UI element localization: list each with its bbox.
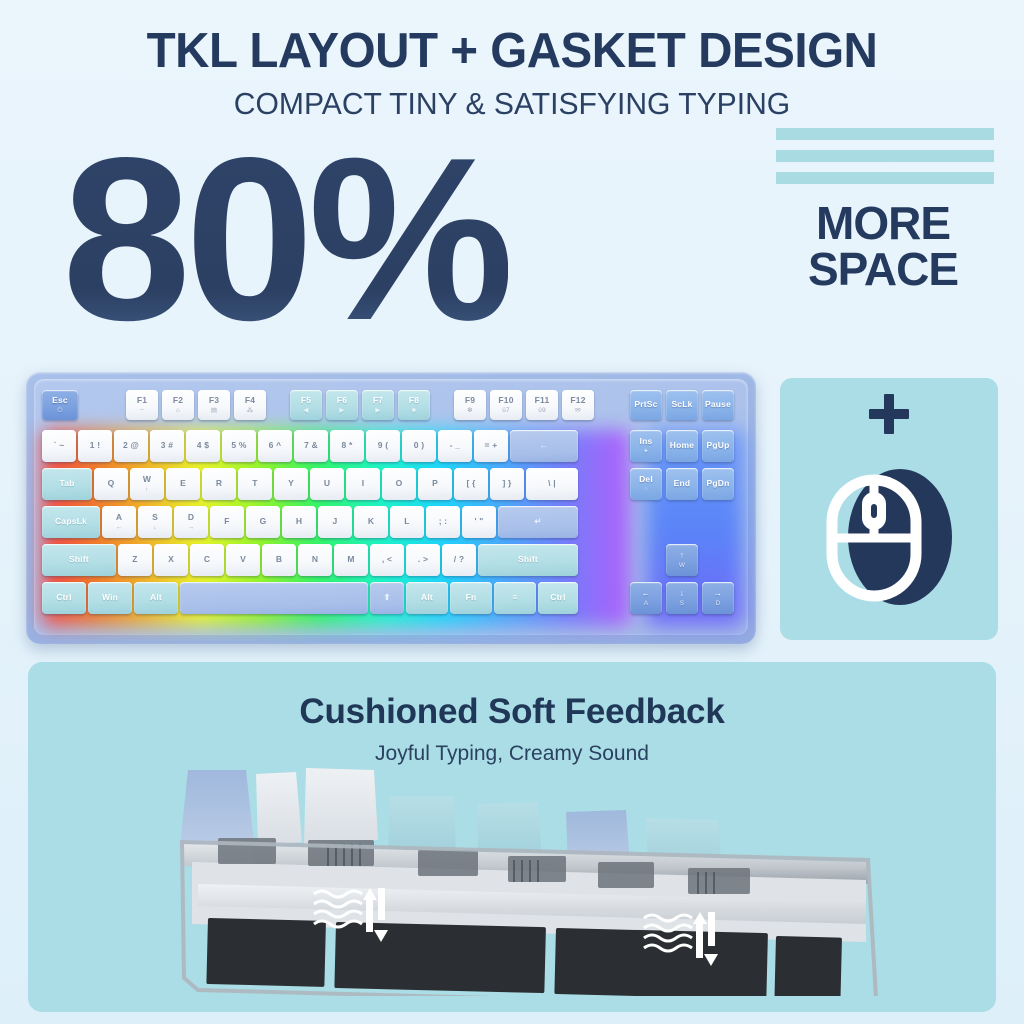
key-label: ScLk xyxy=(671,400,692,410)
page-title: TKL LAYOUT + GASKET DESIGN xyxy=(15,26,1008,77)
feedback-title: Cushioned Soft Feedback xyxy=(28,692,996,732)
key-sublabel: ← xyxy=(116,524,123,531)
key-home-3[interactable]: D→ xyxy=(174,506,208,538)
key-label: Alt xyxy=(150,593,162,603)
key-label: PgUp xyxy=(707,441,730,451)
key-shift-8[interactable]: , < xyxy=(370,544,404,576)
keycaps-layer: Esc⏻F1−F2⌂F3▤F4⁂F5◀F6▶F7▶F8■F9✻F10ὐ7F11ὐ… xyxy=(26,372,756,644)
key-sublabel: ὐ7 xyxy=(502,407,510,414)
key-label: Y xyxy=(288,479,294,489)
hero-section: 80% MORE SPACE xyxy=(0,122,1024,342)
key-label: 5 % xyxy=(231,441,246,451)
key-label: F12 xyxy=(570,396,585,406)
key-home-9[interactable]: L xyxy=(390,506,424,538)
key-sublabel: ○ xyxy=(644,486,648,493)
key-label: Shift xyxy=(69,555,89,565)
key-sublabel: ⌂ xyxy=(176,407,180,414)
key-label: Z xyxy=(132,555,137,565)
key-label: Ins xyxy=(640,437,653,447)
key-shift-5[interactable]: B xyxy=(262,544,296,576)
key-label: W xyxy=(143,475,151,485)
key-label: = + xyxy=(485,441,498,451)
key-label: PgDn xyxy=(707,479,730,489)
key-sublabel: → xyxy=(188,524,195,531)
key-fn-5[interactable]: F5◀ xyxy=(290,390,322,420)
key-shift-7[interactable]: M xyxy=(334,544,368,576)
key-qwerty-0[interactable]: Tab xyxy=(42,468,92,500)
key-bottom-2[interactable]: Alt xyxy=(134,582,178,614)
key-label: ≡ xyxy=(512,593,517,603)
key-label: F6 xyxy=(337,396,347,406)
key-fn-14[interactable]: ScLk xyxy=(666,390,698,420)
keyboard-image: Esc⏻F1−F2⌂F3▤F4⁂F5◀F6▶F7▶F8■F9✻F10ὐ7F11ὐ… xyxy=(26,372,756,644)
key-qwerty-9[interactable]: O xyxy=(382,468,416,500)
key-label: F11 xyxy=(535,396,550,406)
key-label: 2 @ xyxy=(123,441,139,451)
key-label: R xyxy=(216,479,222,489)
key-num-6[interactable]: 6 ^ xyxy=(258,430,292,462)
bar-3 xyxy=(776,172,994,184)
key-num-8[interactable]: 8 * xyxy=(330,430,364,462)
key-sublabel: ▶ xyxy=(339,407,344,414)
key-fn-7[interactable]: F7▶ xyxy=(362,390,394,420)
key-num-11[interactable]: - _ xyxy=(438,430,472,462)
percent-value: 80% xyxy=(62,124,508,356)
key-label: Ctrl xyxy=(550,593,565,603)
feedback-panel: Cushioned Soft Feedback Joyful Typing, C… xyxy=(28,662,996,1012)
key-label: K xyxy=(368,517,374,527)
key-qwerty-8[interactable]: I xyxy=(346,468,380,500)
key-label: Win xyxy=(102,593,118,603)
key-label: F4 xyxy=(245,396,255,406)
more-space-block: MORE SPACE xyxy=(768,128,998,292)
key-qwerty-5[interactable]: T xyxy=(238,468,272,500)
key-home-7[interactable]: J xyxy=(318,506,352,538)
key-fn-2[interactable]: F2⌂ xyxy=(162,390,194,420)
key-label: E xyxy=(180,479,186,489)
key-fn-13[interactable]: PrtSc xyxy=(630,390,662,420)
key-qwerty-2[interactable]: W↑ xyxy=(130,468,164,500)
key-sublabel: ὐ9 xyxy=(538,407,546,414)
key-sublabel: ■ xyxy=(412,407,416,414)
key-label: L xyxy=(404,517,409,527)
key-shift-12[interactable]: ↑W xyxy=(666,544,698,576)
plus-icon xyxy=(867,392,911,436)
key-bottom-1[interactable]: Win xyxy=(88,582,132,614)
key-num-10[interactable]: 0 ) xyxy=(402,430,436,462)
key-label: F1 xyxy=(137,396,147,406)
more-space-line-1: MORE xyxy=(768,200,998,246)
key-label: 4 $ xyxy=(197,441,209,451)
key-label: PrtSc xyxy=(634,400,657,410)
key-num-1[interactable]: 1 ! xyxy=(78,430,112,462)
bar-2 xyxy=(776,150,994,162)
key-label: [ { xyxy=(466,479,475,489)
key-num-0[interactable]: ` ~ xyxy=(42,430,76,462)
key-num-2[interactable]: 2 @ xyxy=(114,430,148,462)
key-label: F8 xyxy=(409,396,419,406)
key-shift-10[interactable]: / ? xyxy=(442,544,476,576)
key-num-5[interactable]: 5 % xyxy=(222,430,256,462)
key-num-15[interactable]: Home xyxy=(666,430,698,462)
mouse-icon xyxy=(814,440,964,625)
key-label: M xyxy=(347,555,354,565)
key-label: ' " xyxy=(474,517,483,527)
key-num-7[interactable]: 7 & xyxy=(294,430,328,462)
key-home-4[interactable]: F xyxy=(210,506,244,538)
key-qwerty-16[interactable]: PgDn xyxy=(702,468,734,500)
key-num-9[interactable]: 9 ( xyxy=(366,430,400,462)
key-num-12[interactable]: = + xyxy=(474,430,508,462)
more-space-line-2: SPACE xyxy=(768,246,998,292)
key-home-10[interactable]: ; : xyxy=(426,506,460,538)
key-num-13[interactable]: ← xyxy=(510,430,578,462)
key-label: X xyxy=(168,555,174,565)
key-sublabel: ✦ xyxy=(643,448,649,455)
key-bottom-6[interactable]: Fn xyxy=(450,582,492,614)
key-label: F2 xyxy=(173,396,183,406)
mouse-card xyxy=(780,378,998,640)
key-label: F10 xyxy=(498,396,513,406)
key-fn-3[interactable]: F3▤ xyxy=(198,390,230,420)
key-sublabel: D xyxy=(716,600,721,607)
key-label: V xyxy=(240,555,246,565)
key-label: ; : xyxy=(439,517,448,527)
key-label: P xyxy=(432,479,438,489)
key-label: 6 ^ xyxy=(269,441,282,451)
key-label: ` ~ xyxy=(54,441,65,451)
key-label: ↵ xyxy=(534,517,541,527)
key-label: / ? xyxy=(454,555,465,565)
key-label: , < xyxy=(382,555,392,565)
key-label: F3 xyxy=(209,396,219,406)
key-qwerty-4[interactable]: R xyxy=(202,468,236,500)
key-label: S xyxy=(152,513,158,523)
key-home-12[interactable]: ↵ xyxy=(498,506,578,538)
key-sublabel: ◀ xyxy=(303,407,308,414)
key-label: 7 & xyxy=(304,441,318,451)
key-num-3[interactable]: 3 # xyxy=(150,430,184,462)
key-fn-12[interactable]: F12✉ xyxy=(562,390,594,420)
key-bottom-8[interactable]: Ctrl xyxy=(538,582,578,614)
key-sublabel: ✻ xyxy=(467,407,473,414)
key-label: ↑ xyxy=(680,551,684,561)
key-label: I xyxy=(362,479,365,489)
key-bottom-4[interactable]: ⬆ xyxy=(370,582,404,614)
key-num-14[interactable]: Ins✦ xyxy=(630,430,662,462)
key-label: A xyxy=(116,513,122,523)
key-qwerty-13[interactable]: \ | xyxy=(526,468,578,500)
key-fn-9[interactable]: F9✻ xyxy=(454,390,486,420)
key-label: B xyxy=(276,555,282,565)
key-shift-6[interactable]: N xyxy=(298,544,332,576)
key-fn-11[interactable]: F11ὐ9 xyxy=(526,390,558,420)
key-sublabel: ↓ xyxy=(153,524,156,531)
key-qwerty-14[interactable]: Del○ xyxy=(630,468,662,500)
key-label: Tab xyxy=(59,479,74,489)
key-home-6[interactable]: H xyxy=(282,506,316,538)
key-label: Q xyxy=(108,479,115,489)
key-label: Pause xyxy=(705,400,731,410)
key-shift-1[interactable]: Z xyxy=(118,544,152,576)
key-fn-10[interactable]: F10ὐ7 xyxy=(490,390,522,420)
key-home-5[interactable]: G xyxy=(246,506,280,538)
key-shift-3[interactable]: C xyxy=(190,544,224,576)
key-fn-8[interactable]: F8■ xyxy=(398,390,430,420)
key-label: Shift xyxy=(518,555,538,565)
key-label: ] } xyxy=(502,479,511,489)
key-sublabel: ▶ xyxy=(375,407,380,414)
key-qwerty-6[interactable]: Y xyxy=(274,468,308,500)
key-shift-11[interactable]: Shift xyxy=(478,544,578,576)
key-sublabel: ⁂ xyxy=(247,407,254,414)
key-bottom-10[interactable]: ↓S xyxy=(666,582,698,614)
key-num-4[interactable]: 4 $ xyxy=(186,430,220,462)
key-label: J xyxy=(333,517,338,527)
key-qwerty-10[interactable]: P xyxy=(418,468,452,500)
key-label: . > xyxy=(418,555,428,565)
key-qwerty-15[interactable]: End xyxy=(666,468,698,500)
key-bottom-9[interactable]: ←A xyxy=(630,582,662,614)
key-fn-4[interactable]: F4⁂ xyxy=(234,390,266,420)
key-label: H xyxy=(296,517,302,527)
key-qwerty-11[interactable]: [ { xyxy=(454,468,488,500)
key-label: 0 ) xyxy=(414,441,425,451)
keyboard-case: Esc⏻F1−F2⌂F3▤F4⁂F5◀F6▶F7▶F8■F9✻F10ὐ7F11ὐ… xyxy=(26,372,756,644)
key-qwerty-12[interactable]: ] } xyxy=(490,468,524,500)
key-label: Alt xyxy=(421,593,433,603)
key-label: Esc xyxy=(52,396,68,406)
key-label: 3 # xyxy=(161,441,173,451)
key-bottom-3[interactable] xyxy=(180,582,368,614)
key-bottom-7[interactable]: ≡ xyxy=(494,582,536,614)
key-label: O xyxy=(396,479,403,489)
decorative-bars xyxy=(768,128,998,184)
key-label: 1 ! xyxy=(90,441,101,451)
key-bottom-11[interactable]: →D xyxy=(702,582,734,614)
key-home-2[interactable]: S↓ xyxy=(138,506,172,538)
key-label: F5 xyxy=(301,396,311,406)
key-label: CapsLk xyxy=(55,517,87,527)
key-label: - _ xyxy=(450,441,461,451)
key-bottom-5[interactable]: Alt xyxy=(406,582,448,614)
key-label: F xyxy=(224,517,229,527)
key-fn-0[interactable]: Esc⏻ xyxy=(42,390,78,420)
key-fn-15[interactable]: Pause xyxy=(702,390,734,420)
header: TKL LAYOUT + GASKET DESIGN COMPACT TINY … xyxy=(0,0,1024,122)
key-sublabel: W xyxy=(679,562,685,569)
feedback-subtitle: Joyful Typing, Creamy Sound xyxy=(28,742,996,766)
key-label: ↓ xyxy=(680,589,684,599)
key-sublabel: ↑ xyxy=(145,486,148,493)
key-sublabel: ⏻ xyxy=(57,407,62,414)
key-home-1[interactable]: A← xyxy=(102,506,136,538)
key-label: Fn xyxy=(466,593,477,603)
key-fn-6[interactable]: F6▶ xyxy=(326,390,358,420)
key-label: T xyxy=(252,479,257,489)
key-label: N xyxy=(312,555,318,565)
key-label: G xyxy=(260,517,267,527)
bar-1 xyxy=(776,128,994,140)
key-bottom-0[interactable]: Ctrl xyxy=(42,582,86,614)
key-label: F7 xyxy=(373,396,383,406)
key-shift-2[interactable]: X xyxy=(154,544,188,576)
key-label: C xyxy=(204,555,210,565)
key-shift-9[interactable]: . > xyxy=(406,544,440,576)
key-label: U xyxy=(324,479,330,489)
key-sublabel: − xyxy=(140,407,144,414)
key-qwerty-7[interactable]: U xyxy=(310,468,344,500)
key-label: ← xyxy=(540,441,549,451)
key-sublabel: A xyxy=(644,600,649,607)
key-shift-4[interactable]: V xyxy=(226,544,260,576)
key-label: \ | xyxy=(548,479,556,489)
key-label: F9 xyxy=(465,396,475,406)
key-label: Home xyxy=(670,441,694,451)
key-shift-0[interactable]: Shift xyxy=(42,544,116,576)
key-label: 9 ( xyxy=(378,441,389,451)
keyboard-cutaway-illustration xyxy=(178,766,878,996)
key-label: → xyxy=(714,589,723,599)
key-sublabel: S xyxy=(680,600,685,607)
key-label: D xyxy=(188,513,194,523)
key-label: Ctrl xyxy=(56,593,71,603)
key-fn-1[interactable]: F1− xyxy=(126,390,158,420)
key-num-16[interactable]: PgUp xyxy=(702,430,734,462)
key-sublabel: ✉ xyxy=(575,407,581,414)
key-label: 8 * xyxy=(342,441,353,451)
key-label: End xyxy=(674,479,691,489)
key-label: Del xyxy=(639,475,653,485)
key-home-8[interactable]: K xyxy=(354,506,388,538)
key-home-0[interactable]: CapsLk xyxy=(42,506,100,538)
key-qwerty-1[interactable]: Q xyxy=(94,468,128,500)
key-label: ⬆ xyxy=(383,593,390,603)
key-home-11[interactable]: ' " xyxy=(462,506,496,538)
key-label: ← xyxy=(642,589,651,599)
key-sublabel: ▤ xyxy=(211,407,217,414)
key-qwerty-3[interactable]: E xyxy=(166,468,200,500)
